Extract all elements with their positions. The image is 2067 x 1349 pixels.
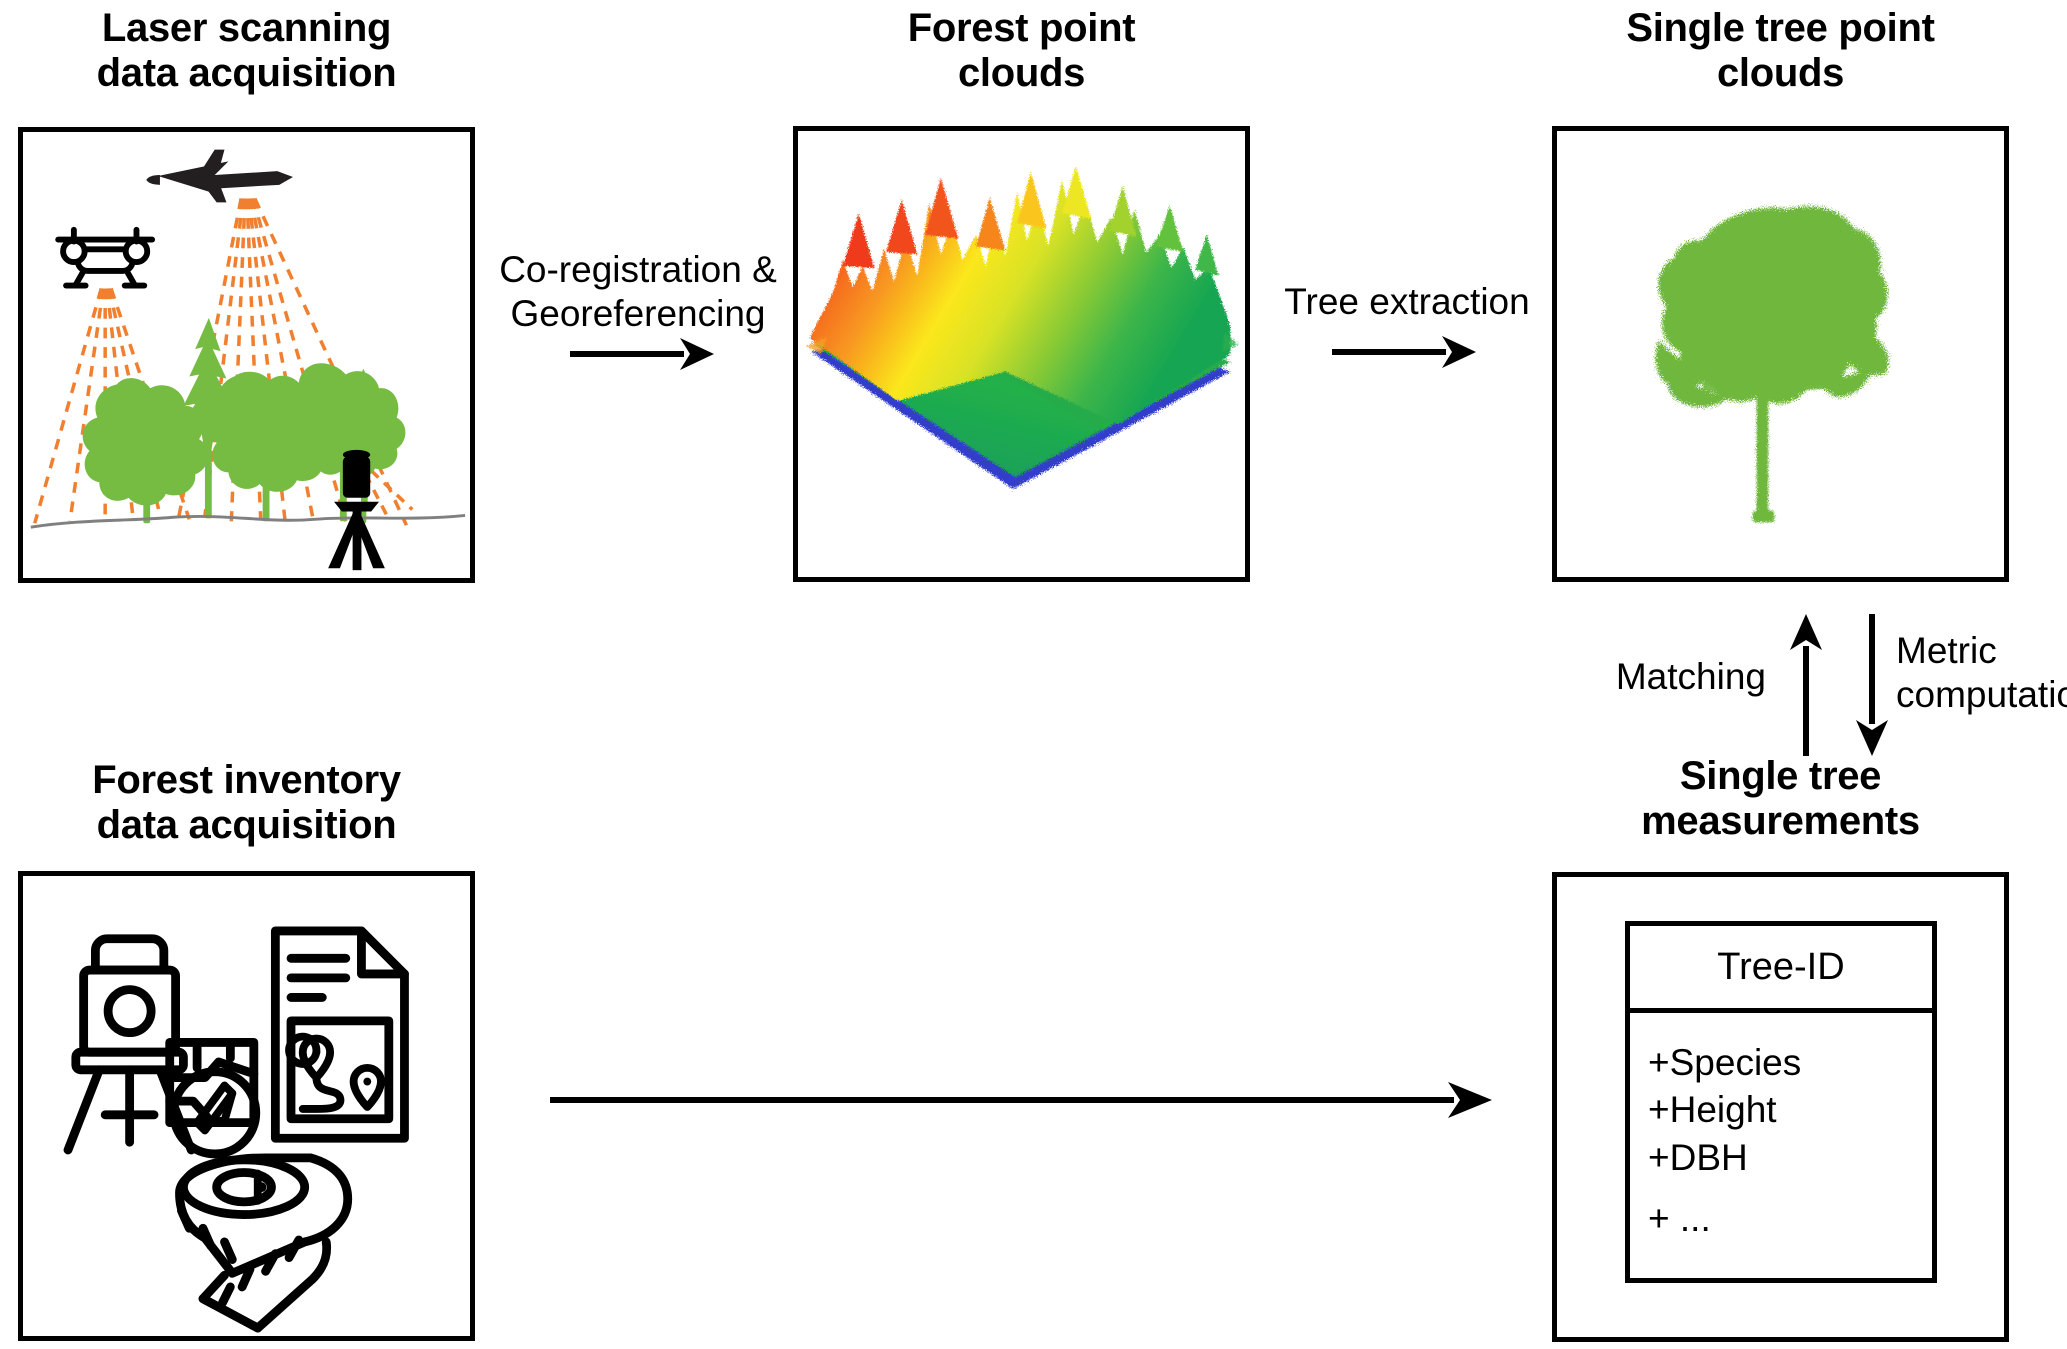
panel-laser-scanning <box>18 127 475 583</box>
uml-attribute-dbh: +DBH <box>1648 1134 1932 1181</box>
arrow-inventory-to-measurements <box>548 1075 1498 1125</box>
measuring-tape-icon <box>179 1158 347 1328</box>
panel-title-single-tree-point-clouds: Single tree point clouds <box>1552 6 2009 96</box>
single-tree-point-cloud-illustration <box>1557 131 2004 577</box>
airplane-icon <box>146 150 293 203</box>
uml-attribute-species: +Species <box>1648 1039 1932 1086</box>
uml-attribute-height: +Height <box>1648 1086 1932 1133</box>
tree-crown-points <box>1656 206 1889 407</box>
panel-title-forest-inventory: Forest inventory data acquisition <box>18 758 475 848</box>
map-document-icon <box>275 931 404 1138</box>
uml-attribute-more: + ... <box>1648 1195 1932 1242</box>
panel-title-laser-scanning: Laser scanning data acquisition <box>18 6 475 96</box>
flow-label-metric-computation: Metric computation <box>1896 629 2067 718</box>
flow-label-matching: Matching <box>1586 655 1766 699</box>
drone-icon <box>58 230 152 286</box>
panel-forest-inventory <box>18 871 475 1341</box>
workflow-diagram: Laser scanning data acquisition <box>0 0 2067 1349</box>
flow-label-tree-extraction: Tree extraction <box>1262 280 1552 324</box>
forest-point-cloud-illustration <box>798 131 1245 577</box>
forest-inventory-illustration <box>23 876 470 1336</box>
uml-class-box-tree-id: Tree-ID +Species +Height +DBH + ... <box>1625 921 1937 1283</box>
laser-scanning-illustration <box>23 132 470 578</box>
compass-icon <box>174 1072 256 1154</box>
uml-class-name: Tree-ID <box>1630 926 1932 1013</box>
flow-label-co-registration: Co-registration & Georeferencing <box>488 248 788 337</box>
arrow-co-registration <box>568 334 718 374</box>
uml-attributes: +Species +Height +DBH + ... <box>1630 1013 1932 1278</box>
panel-single-tree-measurements: Tree-ID +Species +Height +DBH + ... <box>1552 872 2009 1342</box>
arrow-matching-up <box>1782 612 1830 758</box>
arrow-metric-computation-down <box>1848 612 1896 758</box>
arrow-tree-extraction <box>1330 332 1480 372</box>
panel-forest-point-clouds <box>793 126 1250 582</box>
panel-title-forest-point-clouds: Forest point clouds <box>793 6 1250 96</box>
terrain-line <box>31 515 465 527</box>
panel-single-tree-point-clouds <box>1552 126 2009 582</box>
panel-title-single-tree-measurements: Single tree measurements <box>1552 754 2009 844</box>
